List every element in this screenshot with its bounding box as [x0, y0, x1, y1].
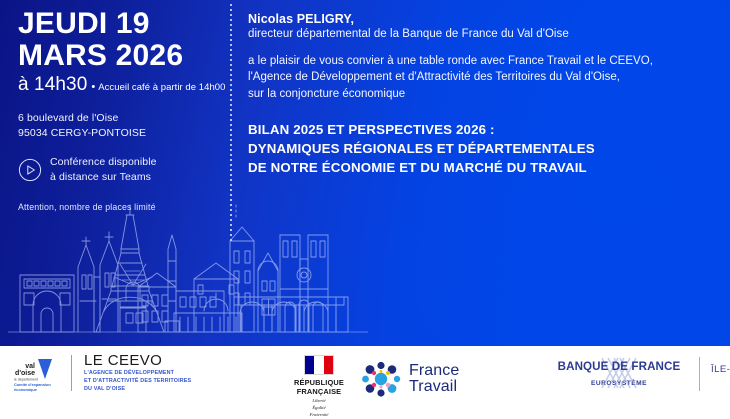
- rf-motto-3: Fraternité: [283, 412, 355, 419]
- address-line-2: 95034 CERGY-PONTOISE: [18, 126, 218, 141]
- venue-address: 6 boulevard de l'Oise 95034 CERGY-PONTOI…: [18, 111, 218, 141]
- banque-de-france-logo: BANQUE DE FRANCE EUROSYSTÈME ÎLE-DE-FRAN…: [545, 357, 730, 391]
- svg-text:d'oise: d'oise: [15, 370, 35, 377]
- ceevo-logo: val d'oise le département Comité d'expan…: [12, 352, 191, 393]
- val-doise-mark-icon: val d'oise le département Comité d'expan…: [12, 353, 64, 393]
- event-date-line-2: MARS 2026: [18, 40, 218, 72]
- ceevo-title: LE CEEVO: [84, 352, 162, 369]
- france-travail-word-1: France: [409, 363, 459, 379]
- ceevo-wordmark: LE CEEVO L'AGENCE DE DÉVELOPPEMENT ET D'…: [79, 352, 191, 393]
- teams-line-1: Conférence disponible: [50, 156, 157, 168]
- event-title-line-3: DE NOTRE ÉCONOMIE ET DU MARCHÉ DU TRAVAI…: [248, 158, 710, 177]
- invitation-line-3: sur la conjoncture économique: [248, 86, 710, 102]
- republique-francaise-logo: RÉPUBLIQUE FRANÇAISE Liberté Égalité Fra…: [283, 355, 355, 419]
- ceevo-sub-line-1: L'AGENCE DE DÉVELOPPEMENT: [84, 370, 191, 378]
- event-time: à 14h30: [18, 74, 87, 96]
- time-separator-dot: •: [91, 81, 95, 93]
- ceevo-sub-line-2: ET D'ATTRACTIVITÉ DES TERRITOIRES: [84, 378, 191, 386]
- event-title-line-1: BILAN 2025 ET PERSPECTIVES 2026 :: [248, 120, 710, 139]
- svg-text:économique: économique: [14, 387, 38, 392]
- invitation-line-1: a le plaisir de vous convier à une table…: [248, 53, 710, 69]
- rf-motto-2: Égalité: [283, 405, 355, 412]
- france-travail-dots-icon: [361, 360, 403, 398]
- speaker-name: Nicolas PELIGRY,: [248, 12, 710, 26]
- france-travail-word-2: Travail: [409, 379, 459, 395]
- partner-logos-footer: val d'oise le département Comité d'expan…: [0, 346, 730, 410]
- event-date-line-1: JEUDI 19: [18, 8, 218, 40]
- event-title-line-2: DYNAMIQUES RÉGIONALES ET DÉPARTEMENTALES: [248, 139, 710, 158]
- event-details-column: JEUDI 19 MARS 2026 à 14h30 • Accueil caf…: [18, 8, 218, 212]
- limited-seats-notice: Attention, nombre de places limité: [18, 202, 218, 212]
- event-title: BILAN 2025 ET PERSPECTIVES 2026 : DYNAMI…: [248, 120, 710, 177]
- rf-name: RÉPUBLIQUE FRANÇAISE: [283, 378, 355, 396]
- invitation-body-column: Nicolas PELIGRY, directeur départemental…: [248, 12, 710, 177]
- play-circle-icon: [18, 158, 42, 182]
- ceevo-subtitle: L'AGENCE DE DÉVELOPPEMENT ET D'ATTRACTIV…: [84, 370, 191, 393]
- speaker-role: directeur départemental de la Banque de …: [248, 28, 710, 40]
- rf-name-line-1: RÉPUBLIQUE: [283, 378, 355, 387]
- rf-motto-1: Liberté: [283, 398, 355, 405]
- bdf-region: ÎLE-DE-FRANCE: [711, 364, 730, 384]
- rf-motto: Liberté Égalité Fraternité: [283, 398, 355, 419]
- remote-conference-note: Conférence disponible à distance sur Tea…: [18, 155, 218, 185]
- teams-text: Conférence disponible à distance sur Tea…: [50, 155, 157, 185]
- hero-panel: JEUDI 19 MARS 2026 à 14h30 • Accueil caf…: [0, 0, 730, 346]
- svg-text:le département: le département: [14, 377, 38, 381]
- bdf-wordmark-block: BANQUE DE FRANCE EUROSYSTÈME: [545, 361, 693, 388]
- invitation-paragraph: a le plaisir de vous convier à une table…: [248, 53, 710, 102]
- france-travail-wordmark: France Travail: [409, 363, 459, 396]
- teams-line-2: à distance sur Teams: [50, 171, 151, 183]
- rf-name-line-2: FRANÇAISE: [283, 387, 355, 396]
- address-line-1: 6 boulevard de l'Oise: [18, 111, 218, 126]
- french-flag-icon: [304, 355, 334, 375]
- france-travail-logo: France Travail: [361, 360, 459, 398]
- svg-text:val: val: [25, 363, 35, 370]
- paris-skyline-illustration: [8, 201, 368, 346]
- invitation-line-2: l'Agence de Développement et d'Attractiv…: [248, 69, 710, 85]
- event-invitation-poster: JEUDI 19 MARS 2026 à 14h30 • Accueil caf…: [0, 0, 730, 410]
- ceevo-sub-line-3: DU VAL D'OISE: [84, 386, 191, 394]
- event-time-row: à 14h30 • Accueil café à partir de 14h00: [18, 74, 218, 96]
- welcome-coffee-note: Accueil café à partir de 14h00: [98, 82, 225, 93]
- ceevo-divider: [71, 355, 72, 391]
- dotted-divider: [230, 4, 232, 242]
- bdf-name: BANQUE DE FRANCE: [545, 361, 693, 373]
- bdf-divider: [699, 357, 700, 391]
